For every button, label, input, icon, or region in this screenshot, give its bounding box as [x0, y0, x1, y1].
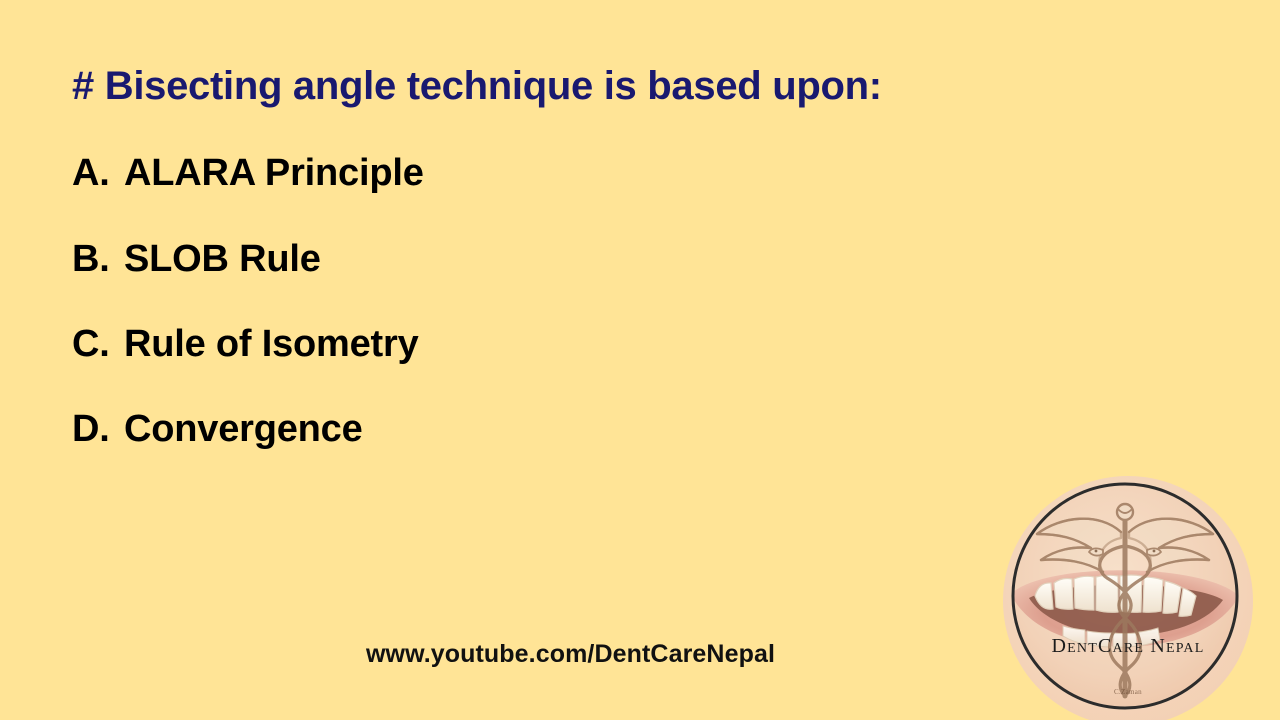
logo-watermark: C.Zaman [1003, 688, 1253, 696]
channel-url-text: www.youtube.com/DentCareNepal [366, 640, 775, 669]
option-letter-a: A. [72, 154, 124, 192]
option-letter-c: C. [72, 325, 124, 363]
slide-canvas: # Bisecting angle technique is based upo… [0, 0, 1280, 720]
option-row-d[interactable]: D.Convergence [72, 410, 363, 448]
option-letter-d: D. [72, 410, 124, 448]
brand-logo: DentCare Nepal C.Zaman [1003, 476, 1253, 720]
option-label-a: ALARA Principle [124, 152, 424, 194]
page-title: # Bisecting angle technique is based upo… [72, 66, 882, 106]
logo-artwork [1003, 476, 1253, 720]
option-row-b[interactable]: B.SLOB Rule [72, 240, 321, 278]
option-row-c[interactable]: C.Rule of Isometry [72, 325, 419, 363]
option-letter-b: B. [72, 240, 124, 278]
option-row-a[interactable]: A.ALARA Principle [72, 154, 424, 192]
option-label-c: Rule of Isometry [124, 323, 419, 365]
option-label-d: Convergence [124, 408, 363, 450]
logo-wordmark: DentCare Nepal [1003, 635, 1253, 658]
option-label-b: SLOB Rule [124, 238, 321, 280]
